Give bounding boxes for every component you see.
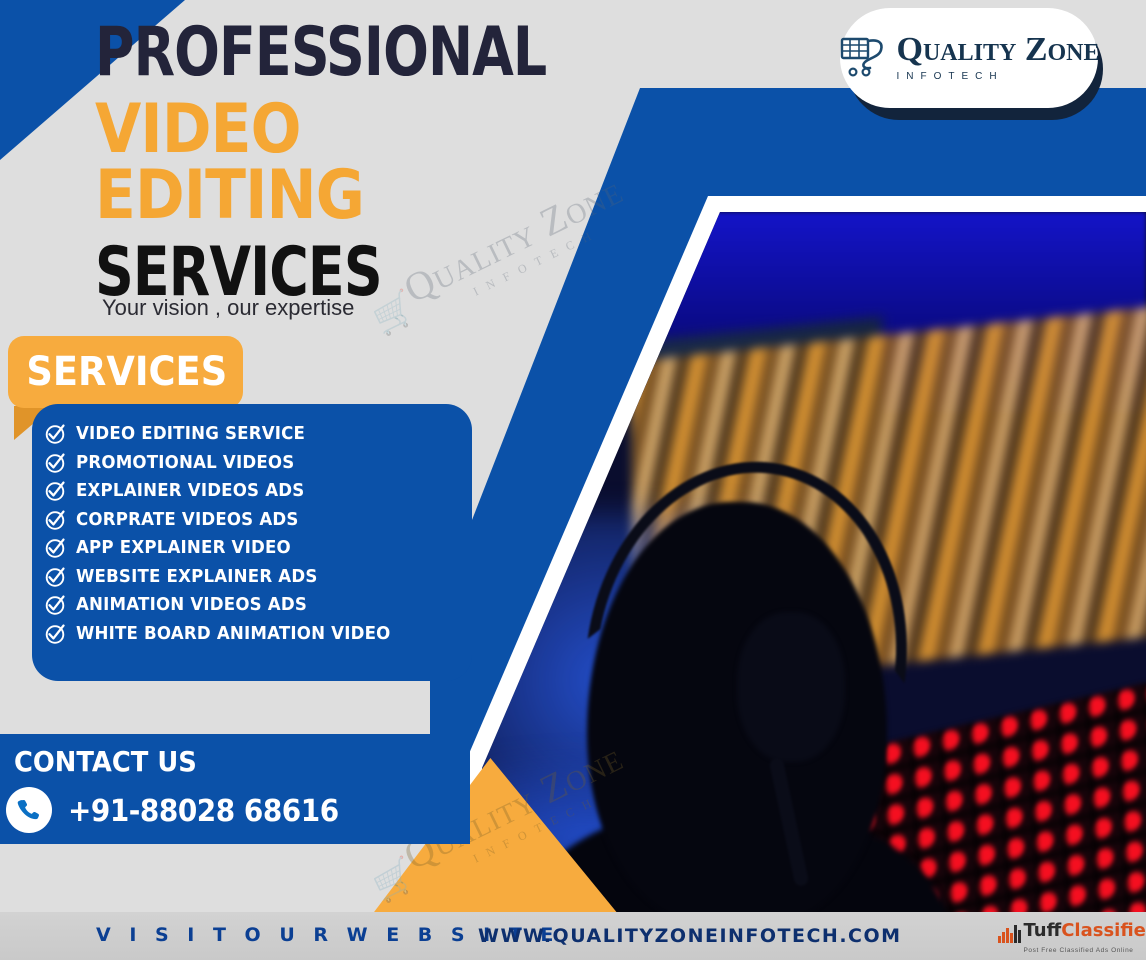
services-badge-label: SERVICES bbox=[8, 349, 227, 395]
contact-phone-number[interactable]: +91-88028 68616 bbox=[68, 794, 339, 829]
services-list: VIDEO EDITING SERVICEPROMOTIONAL VIDEOSE… bbox=[44, 420, 474, 648]
service-list-item: APP EXPLAINER VIDEO bbox=[44, 534, 474, 563]
bar-chart-icon bbox=[998, 924, 1021, 943]
tuff-brand-part1: Tuff bbox=[1024, 920, 1062, 941]
check-circle-icon bbox=[44, 509, 66, 531]
tuffclassified-logo[interactable]: TuffClassified Post Free Classified Ads … bbox=[998, 922, 1146, 956]
contact-title: CONTACT US bbox=[14, 745, 197, 778]
tuff-brand-name: TuffClassified bbox=[1024, 920, 1146, 941]
phone-icon[interactable] bbox=[6, 787, 52, 833]
service-label: CORPRATE VIDEOS ADS bbox=[76, 510, 299, 530]
headline-line-2: VIDEO EDITING bbox=[95, 97, 553, 228]
service-label: ANIMATION VIDEOS ADS bbox=[76, 595, 307, 615]
photo-headphone-cup bbox=[737, 612, 845, 762]
services-badge: SERVICES bbox=[8, 336, 243, 408]
service-list-item: VIDEO EDITING SERVICE bbox=[44, 420, 474, 449]
check-circle-icon bbox=[44, 594, 66, 616]
service-list-item: CORPRATE VIDEOS ADS bbox=[44, 506, 474, 535]
shopping-cart-icon bbox=[839, 33, 891, 84]
tagline: Your vision , our expertise bbox=[102, 295, 354, 321]
service-label: APP EXPLAINER VIDEO bbox=[76, 538, 291, 558]
service-label: VIDEO EDITING SERVICE bbox=[76, 424, 305, 444]
service-label: PROMOTIONAL VIDEOS bbox=[76, 453, 294, 473]
logo-text-block: Quality Zone INFOTECH bbox=[897, 33, 1100, 83]
poster-canvas: 🛒 Quality Zone INFOTECH 🛒 Quality Zone I… bbox=[0, 0, 1146, 960]
tuff-brand-tagline: Post Free Classified Ads Online bbox=[1024, 947, 1134, 954]
service-list-item: WHITE BOARD ANIMATION VIDEO bbox=[44, 620, 474, 649]
service-list-item: EXPLAINER VIDEOS ADS bbox=[44, 477, 474, 506]
service-list-item: ANIMATION VIDEOS ADS bbox=[44, 591, 474, 620]
tuff-brand-part2: Classified bbox=[1061, 920, 1146, 941]
headline-block: PROFESSIONAL VIDEO EDITING SERVICES bbox=[95, 20, 615, 305]
service-list-item: WEBSITE EXPLAINER ADS bbox=[44, 563, 474, 592]
check-circle-icon bbox=[44, 566, 66, 588]
company-logo: Quality Zone INFOTECH bbox=[840, 8, 1098, 108]
check-circle-icon bbox=[44, 623, 66, 645]
logo-sub-text: INFOTECH bbox=[897, 71, 1006, 82]
tuff-text-block: TuffClassified Post Free Classified Ads … bbox=[1024, 922, 1146, 956]
service-list-item: PROMOTIONAL VIDEOS bbox=[44, 449, 474, 478]
service-label: WHITE BOARD ANIMATION VIDEO bbox=[76, 624, 390, 644]
headline-line-1: PROFESSIONAL bbox=[95, 20, 553, 85]
logo-main-text: Quality Zone bbox=[897, 31, 1100, 68]
check-circle-icon bbox=[44, 452, 66, 474]
service-label: EXPLAINER VIDEOS ADS bbox=[76, 481, 304, 501]
footer-website-url[interactable]: WWW.QUALITYZONEINFOTECH.COM bbox=[478, 925, 902, 947]
check-circle-icon bbox=[44, 537, 66, 559]
service-label: WEBSITE EXPLAINER ADS bbox=[76, 567, 318, 587]
check-circle-icon bbox=[44, 423, 66, 445]
check-circle-icon bbox=[44, 480, 66, 502]
